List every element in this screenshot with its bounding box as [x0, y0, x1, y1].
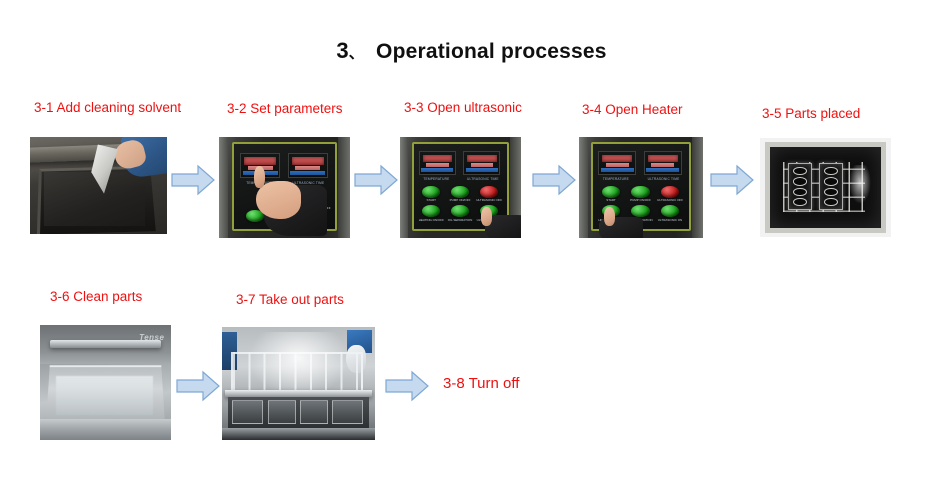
operator-finger — [254, 166, 265, 188]
ultrasonic-time-caption: ULTRASONIC TIME — [648, 177, 680, 181]
flow-arrow-3 — [532, 164, 576, 196]
basket-cell — [268, 400, 296, 425]
panel-plate: TEMPERATURE ULTRASONIC TIME START PUMP O… — [412, 142, 509, 231]
control-panel-open-heater-photo: TEMPERATURE ULTRASONIC TIME START PUMP O… — [579, 137, 703, 238]
ultrasonic-led-display — [648, 155, 678, 162]
temperature-led-display — [602, 155, 632, 162]
operator-finger — [481, 207, 492, 226]
button-ultrasonic-off-caption: ULTRASONIC OFF — [476, 198, 501, 202]
cabinet-edge-left — [219, 137, 228, 238]
button-ultrasonic-off[interactable] — [661, 186, 679, 198]
step-label-3-3: 3-3 Open ultrasonic — [404, 100, 522, 115]
ultrasonic-led-display — [292, 157, 324, 165]
button-heating-caption: HEATING ON/OFF — [419, 218, 444, 222]
tank-base — [222, 428, 375, 440]
tank-lower-interior — [228, 397, 369, 429]
cabinet-edge-left — [400, 137, 408, 238]
ultrasonic-time-meter — [288, 153, 328, 178]
step-label-3-1: 3-1 Add cleaning solvent — [34, 100, 181, 115]
panel-plate: TEMPERATURE ULTRASONIC TIME START PUMP O… — [591, 142, 690, 231]
temperature-meter-keys — [421, 168, 453, 172]
parts-basket-photo — [760, 138, 891, 237]
page-title: 3、 Operational processes — [0, 38, 943, 64]
panel-plate: TEMPERATURE ULTRASONIC TIME ULTRASONIC O… — [232, 142, 337, 231]
slide-canvas: 3、 Operational processes 3-1 Add cleanin… — [0, 0, 943, 489]
step-label-3-4: 3-4 Open Heater — [582, 102, 683, 117]
button-oil-separation[interactable] — [631, 205, 649, 217]
ultrasonic-meter-keys — [290, 171, 325, 176]
page-title-text: Operational processes — [376, 40, 607, 63]
step-label-3-5: 3-5 Parts placed — [762, 106, 860, 121]
basket-cell — [300, 400, 328, 425]
temperature-led-display — [244, 157, 276, 165]
step-label-3-7: 3-7 Take out parts — [236, 292, 344, 307]
operator-palm — [256, 181, 300, 218]
cylinder-bore — [793, 188, 807, 197]
cylinder-bore — [824, 177, 838, 186]
solvent-liquid — [44, 172, 145, 226]
cylinder-bore — [824, 198, 838, 207]
temperature-caption: TEMPERATURE — [603, 177, 629, 181]
basket-highlight — [849, 165, 871, 204]
cylinder-head-2 — [819, 163, 843, 210]
ultrasonic-led-display — [467, 155, 496, 162]
control-panel-set-parameters-photo: TEMPERATURE ULTRASONIC TIME ULTRASONIC O… — [219, 137, 350, 238]
basket-cell — [232, 400, 263, 425]
cylinder-bore — [824, 188, 838, 197]
control-panel-open-ultrasonic-photo: TEMPERATURE ULTRASONIC TIME START PUMP O… — [400, 137, 521, 238]
operator-finger — [604, 207, 615, 226]
ultrasonic-time-caption: ULTRASONIC TIME — [467, 177, 499, 181]
temperature-led-display — [423, 155, 452, 162]
cylinder-head-1 — [788, 163, 812, 210]
basket-cell — [332, 400, 363, 425]
button-oil-separation-caption: OIL SEPARATION — [447, 218, 474, 222]
step-label-3-2: 3-2 Set parameters — [227, 101, 343, 116]
clean-tank-photo: Tense — [40, 325, 171, 440]
cylinder-bore — [793, 177, 807, 186]
button-pump[interactable] — [631, 186, 649, 198]
temperature-meter-keys — [601, 168, 634, 172]
cylinder-bore — [824, 167, 838, 176]
button-ultrasonic-off[interactable] — [480, 186, 498, 198]
ultrasonic-time-meter — [644, 151, 682, 175]
steam-cloud — [250, 332, 348, 398]
flow-arrow-5 — [176, 370, 220, 402]
button-start-caption: START — [600, 198, 622, 202]
button-ultrasonic-on-caption: ULTRASONIC ON — [657, 218, 683, 222]
flow-arrow-6 — [385, 370, 429, 402]
watermark: Tense — [139, 333, 164, 342]
button-oil-separation[interactable] — [451, 205, 469, 217]
water-surface — [56, 376, 153, 415]
ultrasonic-time-meter — [463, 151, 500, 175]
step-label-3-8: 3-8 Turn off — [443, 375, 519, 392]
flow-arrow-2 — [354, 164, 398, 196]
flow-arrow-4 — [710, 164, 754, 196]
cylinder-bore — [793, 167, 807, 176]
page-title-number: 3 — [336, 38, 348, 63]
ultrasonic-meter-keys — [646, 168, 679, 172]
temperature-meter — [598, 151, 636, 175]
ultrasonic-meter-keys — [466, 168, 498, 172]
basket-rail — [225, 390, 372, 397]
button-ultrasonic-on[interactable] — [661, 205, 679, 217]
take-out-parts-photo — [222, 327, 375, 440]
button-pump-caption: PUMP ON/OFF — [448, 198, 473, 202]
ultrasonic-time-caption: ULTRASONIC TIME — [293, 181, 325, 185]
flow-arrow-1 — [171, 164, 215, 196]
tank-front-ledge — [40, 419, 171, 440]
cabinet-edge-right — [338, 137, 350, 238]
button-pump-caption: PUMP ON/OFF — [628, 198, 654, 202]
button-start[interactable] — [602, 186, 620, 198]
button-heating[interactable] — [422, 205, 440, 217]
temperature-meter — [419, 151, 456, 175]
button-start-caption: START — [421, 198, 442, 202]
button-pump[interactable] — [451, 186, 469, 198]
temperature-caption: TEMPERATURE — [423, 177, 449, 181]
basket-frame — [765, 142, 886, 233]
step-label-3-6: 3-6 Clean parts — [50, 289, 142, 304]
page-title-punct: 、 — [349, 44, 364, 62]
cabinet-edge-left — [579, 137, 588, 238]
button-start[interactable] — [422, 186, 440, 198]
cylinder-bore — [793, 198, 807, 207]
solvent-tank-photo — [30, 137, 167, 234]
cabinet-edge-right — [692, 137, 703, 238]
button-ultrasonic-off-caption: ULTRASONIC OFF — [657, 198, 683, 202]
